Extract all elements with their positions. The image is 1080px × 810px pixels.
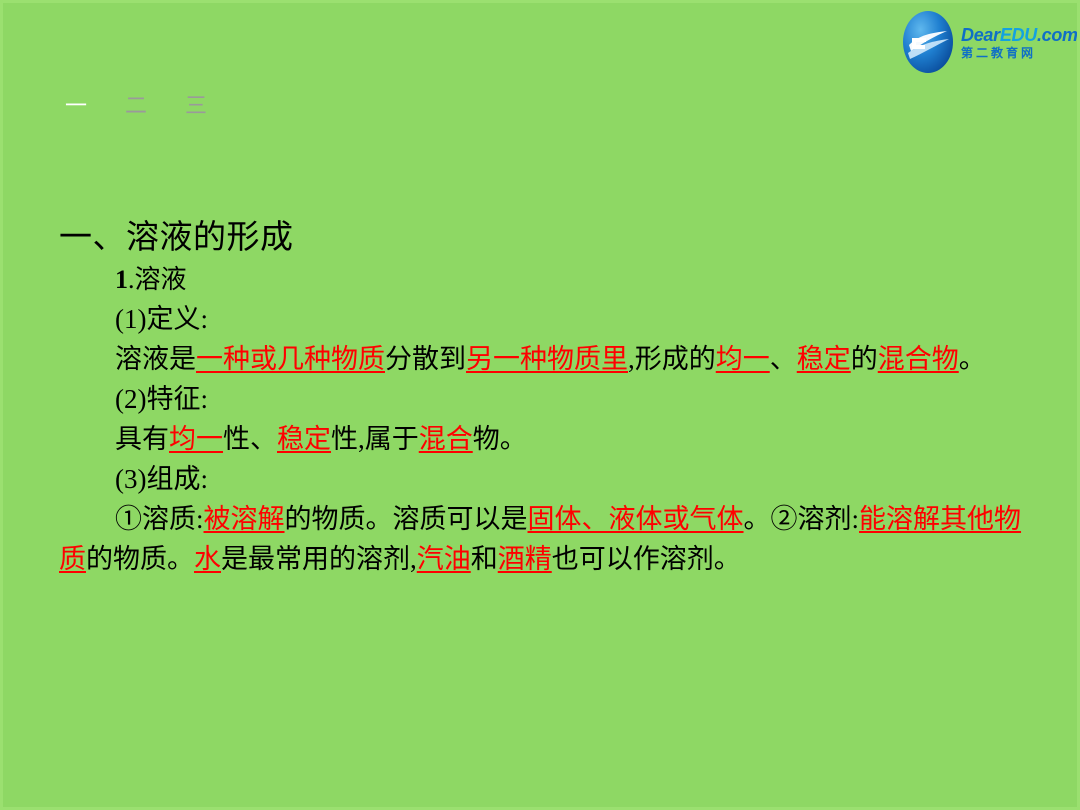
def-text-3: ,形成的 [628, 344, 716, 374]
def-text-5: 的 [851, 344, 878, 374]
definition-body: 溶液是一种或几种物质分散到另一种物质里,形成的均一、稳定的混合物。 [59, 339, 1080, 379]
def-text-4: 、 [770, 344, 797, 374]
def-text-2: 分散到 [385, 344, 466, 374]
def-text-1: 溶液是 [115, 344, 196, 374]
slide-content: 一、溶液的形成 1.溶液 (1)定义: 溶液是一种或几种物质分散到另一种物质里,… [3, 217, 1080, 579]
feat-text-3: 性,属于 [331, 424, 419, 454]
comp-text-1: ①溶质: [115, 504, 204, 534]
logo-wordmark: DearEDU.com 第二教育网 [961, 26, 1078, 59]
feat-text-1: 具有 [115, 424, 169, 454]
def-blank-5: 混合物 [878, 344, 959, 374]
comp-text-5: 是最常用的溶剂, [221, 544, 417, 574]
logo-brand-prefix: Dear [961, 25, 1000, 45]
slide-canvas: DearEDU.com 第二教育网 一 二 三 一、溶液的形成 1.溶液 (1)… [0, 0, 1080, 810]
logo-brand-text: DearEDU.com [961, 26, 1078, 44]
comp-text-2: 的物质。溶质可以是 [285, 504, 528, 534]
feat-blank-1: 均一 [169, 424, 223, 454]
feat-text-4: 物。 [473, 424, 527, 454]
sub-heading: 1.溶液 [115, 263, 1080, 297]
comp-text-4: 的物质。 [86, 544, 194, 574]
comp-text-7: 也可以作溶剂。 [552, 544, 741, 574]
logo-brand-edu: EDU [1000, 25, 1037, 45]
logo-subtitle: 第二教育网 [961, 47, 1078, 59]
feature-label: (2)特征: [115, 379, 1080, 419]
feat-blank-3: 混合 [419, 424, 473, 454]
composition-body: ①溶质:被溶解的物质。溶质可以是固体、液体或气体。②溶剂:能溶解其他物质的物质。… [59, 499, 1080, 579]
feat-blank-2: 稳定 [277, 424, 331, 454]
comp-blank-6: 酒精 [498, 544, 552, 574]
def-blank-1: 一种或几种物质 [196, 344, 385, 374]
def-blank-3: 均一 [716, 344, 770, 374]
comp-blank-5: 汽油 [417, 544, 471, 574]
definition-label: (1)定义: [115, 299, 1080, 339]
feature-body: 具有均一性、稳定性,属于混合物。 [59, 419, 1080, 459]
tab-san[interactable]: 三 [185, 95, 207, 119]
comp-text-3: 。②溶剂: [744, 504, 860, 534]
logo-swoosh-icon [903, 11, 953, 73]
tab-er[interactable]: 二 [125, 95, 147, 119]
feat-text-2: 性、 [223, 424, 277, 454]
page-title: 一、溶液的形成 [59, 217, 1080, 259]
logo-brand-suffix: .com [1037, 25, 1078, 45]
logo-mark-icon [897, 11, 959, 73]
section-tabs: 一 二 三 [65, 95, 207, 119]
comp-blank-2: 固体、液体或气体 [528, 504, 744, 534]
def-blank-2: 另一种物质里 [466, 344, 628, 374]
comp-blank-1: 被溶解 [204, 504, 285, 534]
composition-label: (3)组成: [115, 459, 1080, 499]
sub-heading-label: .溶液 [128, 265, 187, 294]
dearedu-logo: DearEDU.com 第二教育网 [897, 11, 1069, 73]
comp-blank-4: 水 [194, 544, 221, 574]
def-text-6: 。 [959, 344, 986, 374]
tab-yi[interactable]: 一 [65, 95, 87, 119]
comp-text-6: 和 [471, 544, 498, 574]
sub-heading-number: 1 [115, 265, 128, 294]
def-blank-4: 稳定 [797, 344, 851, 374]
